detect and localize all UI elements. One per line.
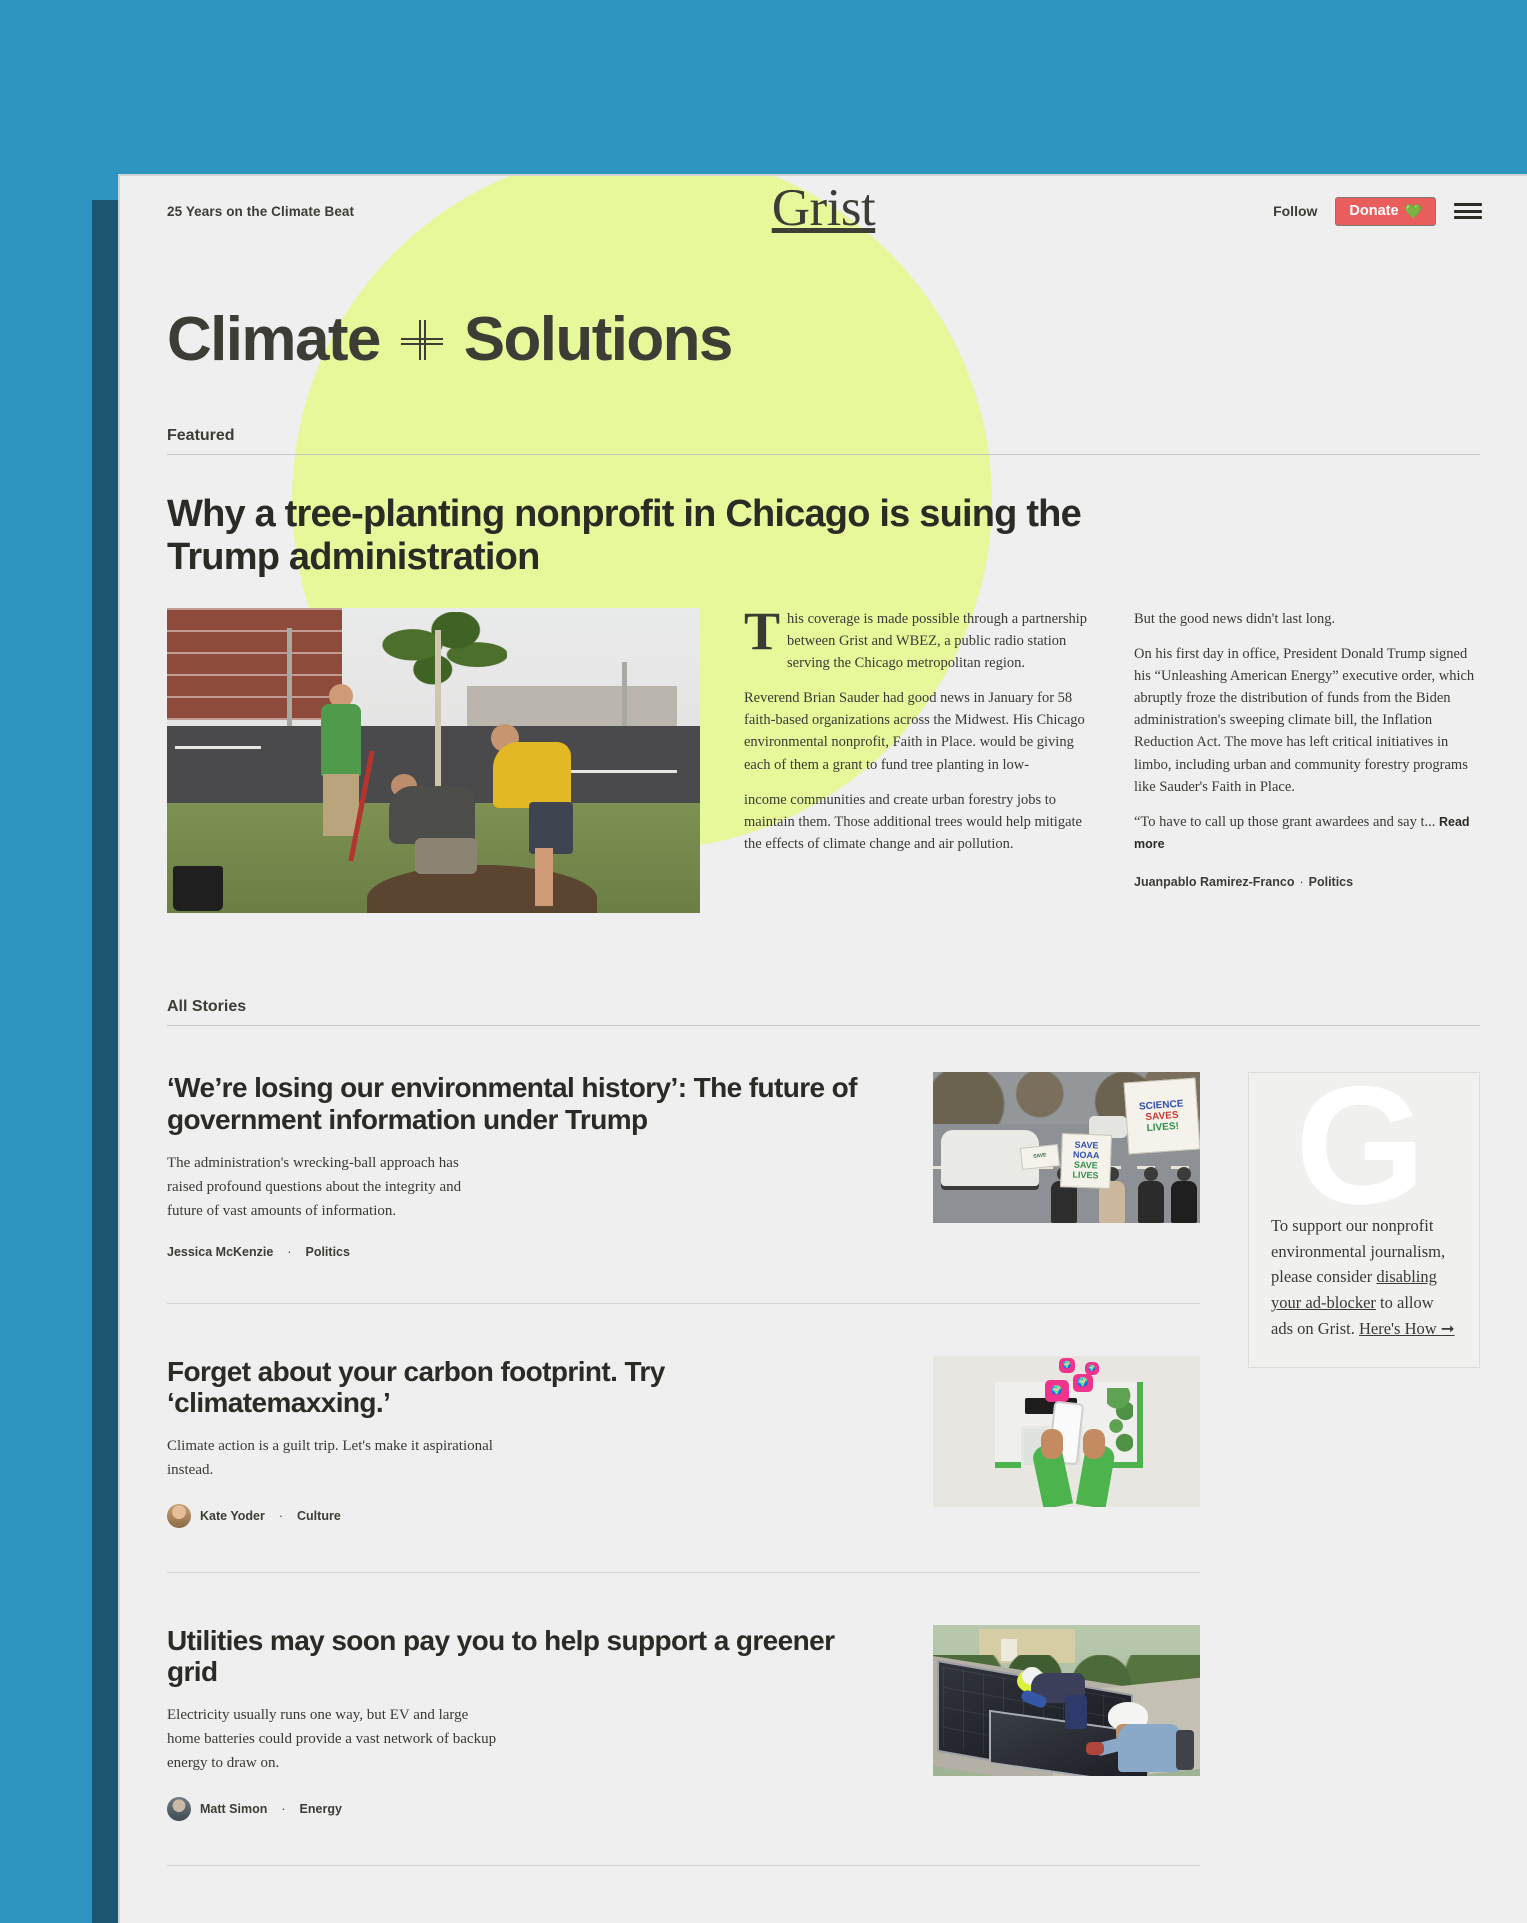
- featured-author-link[interactable]: Juanpablo Ramirez-Franco: [1134, 875, 1294, 889]
- photo-protester-3: [1138, 1167, 1164, 1223]
- photo-person-yellow-shirt: [483, 728, 575, 896]
- story-category-link[interactable]: Energy: [300, 1802, 342, 1816]
- adblock-notice-card: G To support our nonprofit environmental…: [1248, 1072, 1480, 1368]
- sign-line-2: SAVE LIVES: [1061, 1160, 1110, 1181]
- featured-byline: Juanpablo Ramirez-Franco·Politics: [1134, 873, 1480, 892]
- photo-person-green-shirt: [317, 704, 363, 874]
- byline-separator: ·: [279, 1509, 283, 1523]
- grist-g-watermark-icon: G: [1295, 1072, 1420, 1229]
- story-dek: The administration's wrecking-ball appro…: [167, 1151, 497, 1223]
- photo-protest-sign-small: SAVE: [1020, 1144, 1060, 1170]
- story-card[interactable]: Utilities may soon pay you to help suppo…: [167, 1573, 1200, 1866]
- featured-paragraph-3: income communities and create urban fore…: [744, 789, 1090, 855]
- byline-separator: ·: [281, 1802, 285, 1816]
- avatar: [167, 1504, 191, 1528]
- all-stories-section-header: All Stories: [167, 998, 1480, 1026]
- story-author-link[interactable]: Jessica McKenzie: [167, 1245, 273, 1259]
- hero-section: Climate Solutions: [120, 246, 1527, 371]
- photo-plant-pot: [173, 866, 223, 911]
- sign-line-3: LIVES!: [1146, 1121, 1179, 1134]
- story-byline: Jessica McKenzie·Politics: [167, 1245, 877, 1259]
- grist-logo[interactable]: Grist: [120, 182, 1527, 235]
- featured-column-two: But the good news didn't last long. On h…: [1134, 608, 1480, 891]
- story-text: ‘We’re losing our environmental history’…: [167, 1072, 887, 1258]
- story-dek: Electricity usually runs one way, but EV…: [167, 1703, 497, 1775]
- stories-list: ‘We’re losing our environmental history’…: [167, 1026, 1200, 1866]
- featured-paragraph-5: On his first day in office, President Do…: [1134, 643, 1480, 797]
- illustration-hand-left: [1041, 1429, 1063, 1459]
- byline-separator: ·: [287, 1245, 291, 1259]
- avatar: [167, 1797, 191, 1821]
- photo-person-kneeling: [389, 776, 481, 880]
- featured-section-header: Featured: [167, 427, 1480, 455]
- story-category-link[interactable]: Culture: [297, 1509, 341, 1523]
- photo-shorts: [529, 802, 573, 854]
- byline-separator: ·: [1299, 875, 1303, 889]
- featured-category-link[interactable]: Politics: [1309, 875, 1353, 889]
- photo-worker-green-helmet: [1017, 1663, 1093, 1717]
- plus-glyph-icon: [401, 318, 443, 362]
- page-title: Climate Solutions: [167, 308, 1480, 371]
- story-card[interactable]: Forget about your carbon footprint. Try …: [167, 1304, 1200, 1573]
- photo-leg: [535, 848, 553, 906]
- featured-paragraph-6: “To have to call up those grant awardees…: [1134, 811, 1480, 855]
- story-thumbnail[interactable]: 🌍 🌍 🌍 🌍: [933, 1356, 1200, 1507]
- illustration-globe-bubble-2: 🌍: [1073, 1374, 1093, 1392]
- featured-column-one: This coverage is made possible through a…: [744, 608, 1090, 891]
- photo-protester-4: [1171, 1167, 1197, 1223]
- story-title[interactable]: ‘We’re losing our environmental history’…: [167, 1072, 877, 1135]
- story-title[interactable]: Utilities may soon pay you to help suppo…: [167, 1625, 877, 1688]
- sign-line-1: SAVE NOAA: [1062, 1141, 1111, 1162]
- photo-shirt: [321, 704, 361, 776]
- featured-article-title[interactable]: Why a tree-planting nonprofit in Chicago…: [167, 493, 1177, 578]
- adblock-notice-text: To support our nonprofit environmental j…: [1271, 1213, 1457, 1341]
- photo-protest-sign-science: SCIENCE SAVES LIVES!: [1124, 1078, 1200, 1155]
- illustration-globe-bubble-1: 🌍: [1045, 1380, 1069, 1402]
- story-card[interactable]: ‘We’re losing our environmental history’…: [167, 1026, 1200, 1303]
- featured-article-image[interactable]: [167, 608, 700, 913]
- featured-truncated-quote: “To have to call up those grant awardees…: [1134, 814, 1435, 830]
- illustration-globe-bubble-4: 🌍: [1085, 1362, 1099, 1375]
- page-title-part-1: Climate: [167, 308, 380, 371]
- photo-protest-sign-noaa: SAVE NOAA SAVE LIVES: [1060, 1133, 1112, 1189]
- story-text: Utilities may soon pay you to help suppo…: [167, 1625, 887, 1821]
- photo-brick-wall: [167, 608, 342, 720]
- grist-page: 25 Years on the Climate Beat Grist Follo…: [118, 174, 1527, 1923]
- story-byline: Matt Simon·Energy: [167, 1797, 877, 1821]
- story-author-link[interactable]: Matt Simon: [200, 1802, 267, 1816]
- photo-shorts: [323, 774, 359, 836]
- photo-jacket: [389, 786, 475, 844]
- featured-paragraph-1: This coverage is made possible through a…: [744, 608, 1090, 674]
- story-dek: Climate action is a guilt trip. Let's ma…: [167, 1434, 497, 1482]
- featured-paragraph-4: But the good news didn't last long.: [1134, 608, 1480, 630]
- sidebar: G To support our nonprofit environmental…: [1248, 1072, 1480, 1368]
- photo-shirt: [493, 742, 571, 808]
- site-header: 25 Years on the Climate Beat Grist Follo…: [120, 176, 1527, 246]
- photo-pants: [415, 838, 477, 874]
- story-category-link[interactable]: Politics: [305, 1245, 349, 1259]
- heres-how-link[interactable]: Here's How ➞: [1359, 1319, 1455, 1338]
- story-author-link[interactable]: Kate Yoder: [200, 1509, 265, 1523]
- story-text: Forget about your carbon footprint. Try …: [167, 1356, 887, 1528]
- photo-worker-white-helmet: [1102, 1700, 1194, 1776]
- featured-article-columns: This coverage is made possible through a…: [744, 608, 1480, 891]
- story-byline: Kate Yoder·Culture: [167, 1504, 877, 1528]
- stories-and-sidebar: ‘We’re losing our environmental history’…: [167, 1026, 1480, 1866]
- featured-article-body: This coverage is made possible through a…: [167, 608, 1480, 913]
- story-title[interactable]: Forget about your carbon footprint. Try …: [167, 1356, 877, 1419]
- story-thumbnail[interactable]: SAVE SAVE NOAA SAVE LIVES SCIENCE SAVES …: [933, 1072, 1200, 1223]
- featured-article[interactable]: Why a tree-planting nonprofit in Chicago…: [167, 493, 1480, 913]
- page-title-part-2: Solutions: [464, 308, 732, 371]
- illustration-hand-right: [1083, 1429, 1105, 1459]
- story-thumbnail[interactable]: [933, 1625, 1200, 1776]
- featured-paragraph-2: Reverend Brian Sauder had good news in J…: [744, 687, 1090, 775]
- illustration-globe-bubble-3: 🌍: [1059, 1358, 1075, 1373]
